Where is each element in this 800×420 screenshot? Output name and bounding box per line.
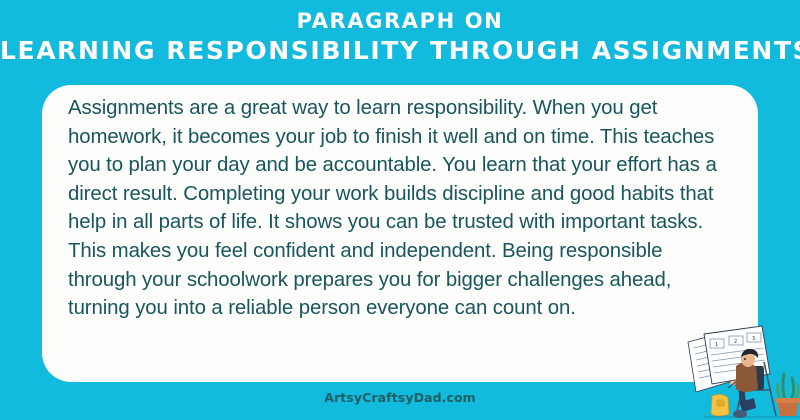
footer: ArtsyCraftsyDad.com: [0, 389, 800, 407]
title-line-primary: Paragraph On: [0, 6, 800, 36]
paragraph-body-text: Assignments are a great way to learn res…: [68, 94, 724, 323]
poster-canvas: Paragraph On Learning Responsibility Thr…: [0, 0, 800, 420]
title-line-secondary: Learning Responsibility Through Assignme…: [0, 36, 800, 66]
site-credit: ArtsyCraftsyDad.com: [324, 390, 476, 405]
page-title: Paragraph On Learning Responsibility Thr…: [0, 6, 800, 66]
paragraph-card: Assignments are a great way to learn res…: [42, 85, 758, 382]
